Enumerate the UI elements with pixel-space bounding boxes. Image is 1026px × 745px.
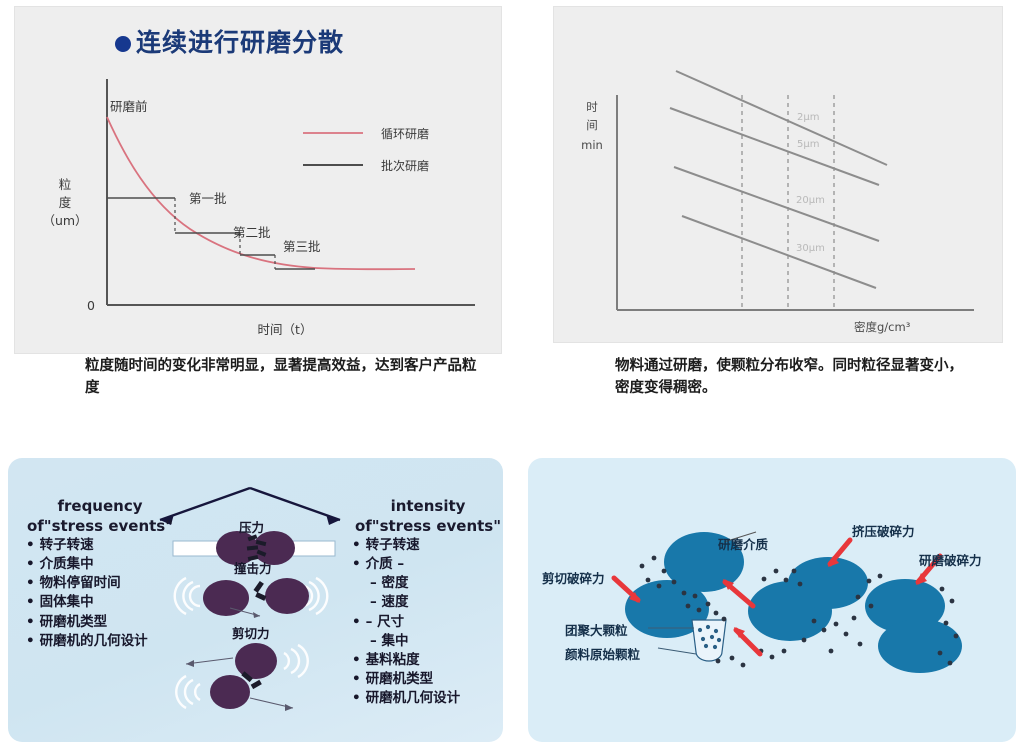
frequency-factor-list: 转子转速 介质集中 物料停留时间 固体集中 研磨机类型 研磨机的几何设计 xyxy=(26,536,216,651)
chart2-series-4 xyxy=(682,216,876,288)
list-item: 研磨机类型 xyxy=(352,670,522,689)
chart1-y-label-1: 粒 xyxy=(59,177,72,192)
chart1-origin-label: 0 xyxy=(87,298,95,313)
chart1-y-label-3: （um） xyxy=(42,213,87,228)
impact-bead-right xyxy=(265,578,309,614)
chart1-batch-label-2: 第二批 xyxy=(233,225,271,240)
list-item: 物料停留时间 xyxy=(26,574,216,593)
intensity-heading-line2: of"stress events" xyxy=(348,516,508,536)
shear-vector-head-top-icon xyxy=(186,660,194,667)
list-item: – 密度 xyxy=(352,574,522,593)
force-label-pressure: 压力 xyxy=(239,517,264,536)
leader-pigment-label xyxy=(658,648,696,654)
force-label-impact: 撞击力 xyxy=(234,558,272,577)
list-item: – 尺寸 xyxy=(352,613,522,632)
list-item: – 速度 xyxy=(352,593,522,612)
chart2-series-3 xyxy=(674,167,879,241)
label-grinding-breakage: 研磨破碎力 xyxy=(919,550,982,569)
chart2-series-label-4: 30μm xyxy=(796,243,825,254)
chart1-y-label-2: 度 xyxy=(59,195,72,210)
arrow-head-right-icon xyxy=(326,514,340,525)
label-grinding-media: 研磨介质 xyxy=(718,534,768,553)
chart1-x-label: 时间（t） xyxy=(258,322,313,337)
chart2-series-1 xyxy=(676,71,887,165)
list-item: 介质集中 xyxy=(26,555,216,574)
label-shear-breakage: 剪切破碎力 xyxy=(542,568,605,587)
frequency-heading: frequency of"stress events" xyxy=(20,496,180,537)
label-pigment-primary: 颜料原始颗粒 xyxy=(565,644,640,663)
chart2-y-label-3: min xyxy=(581,138,603,152)
chart2-x-label: 密度g/cm³ xyxy=(854,320,911,334)
chart2-y-label-1: 时 xyxy=(586,100,598,114)
list-item: 研磨机的几何设计 xyxy=(26,632,216,651)
list-item: 介质 – xyxy=(352,555,522,574)
chart1-batch-label-1: 第一批 xyxy=(189,191,227,206)
impact-vector-head-icon xyxy=(253,612,260,618)
force-label-shear: 剪切力 xyxy=(232,623,270,642)
time-density-chart-panel: 2μm 5μm 20μm 30μm 时 间 min 密度g/cm³ xyxy=(553,6,1003,343)
list-item: 转子转速 xyxy=(26,536,216,555)
chart2-series-label-1: 2μm xyxy=(797,112,819,123)
agglomerate-cluster xyxy=(692,620,726,661)
shear-waves-left xyxy=(176,676,200,708)
particle-size-chart-panel: 连续进行研磨分散 研磨前 第一批 第二批 第三批 粒 度 （um） 0 时间（t… xyxy=(14,6,502,354)
chart2-series-label-2: 5μm xyxy=(797,139,819,150)
chart1-legend-label-batch: 批次研磨 xyxy=(381,158,429,173)
frequency-heading-line1: frequency xyxy=(20,496,180,516)
chart1-before-label: 研磨前 xyxy=(110,99,148,114)
shear-bead-top xyxy=(235,643,277,679)
chart2-svg: 2μm 5μm 20μm 30μm 时 间 min 密度g/cm³ xyxy=(554,7,1002,342)
chart2-caption: 物料通过研磨，使颗粒分布收窄。同时粒径显著变小，密度变得稠密。 xyxy=(615,355,975,400)
chart2-series-label-3: 20μm xyxy=(796,195,825,206)
shear-waves-right xyxy=(284,645,308,677)
impact-fragments xyxy=(253,581,266,601)
list-item: – 集中 xyxy=(352,632,522,651)
chart1-caption: 粒度随时间的变化非常明显，显著提高效益，达到客户产品粒度 xyxy=(85,355,485,400)
frequency-heading-line2: of"stress events" xyxy=(20,516,180,536)
intensity-heading-line1: intensity xyxy=(348,496,508,516)
chart1-batch-label-3: 第三批 xyxy=(283,239,321,254)
chart1-legend-label-cyclic: 循环研磨 xyxy=(381,127,429,141)
chart2-y-label-2: 间 xyxy=(586,118,598,132)
list-item: 基料粘度 xyxy=(352,651,522,670)
intensity-factor-list: 转子转速 介质 – – 密度 – 速度 – 尺寸 – 集中 基料粘度 研磨机类型… xyxy=(352,536,522,708)
shear-bead-bottom xyxy=(210,675,250,709)
breakage-forces-panel: 剪切破碎力 研磨介质 挤压破碎力 研磨破碎力 团聚大颗粒 颜料原始颗粒 xyxy=(528,458,1016,742)
label-agglomerate: 团聚大颗粒 xyxy=(565,620,628,639)
shear-vector-head-bottom-icon xyxy=(285,704,293,711)
list-item: 转子转速 xyxy=(352,536,522,555)
chart1-series-cyclic xyxy=(107,117,415,269)
list-item: 研磨机类型 xyxy=(26,613,216,632)
list-item: 研磨机几何设计 xyxy=(352,689,522,708)
intensity-heading: intensity of"stress events" xyxy=(348,496,508,537)
breakage-panel-svg xyxy=(528,458,1016,742)
chart1-svg: 研磨前 第一批 第二批 第三批 粒 度 （um） 0 时间（t） 循环研磨 批次… xyxy=(15,7,501,353)
label-compression-breakage: 挤压破碎力 xyxy=(852,521,915,540)
list-item: 固体集中 xyxy=(26,593,216,612)
